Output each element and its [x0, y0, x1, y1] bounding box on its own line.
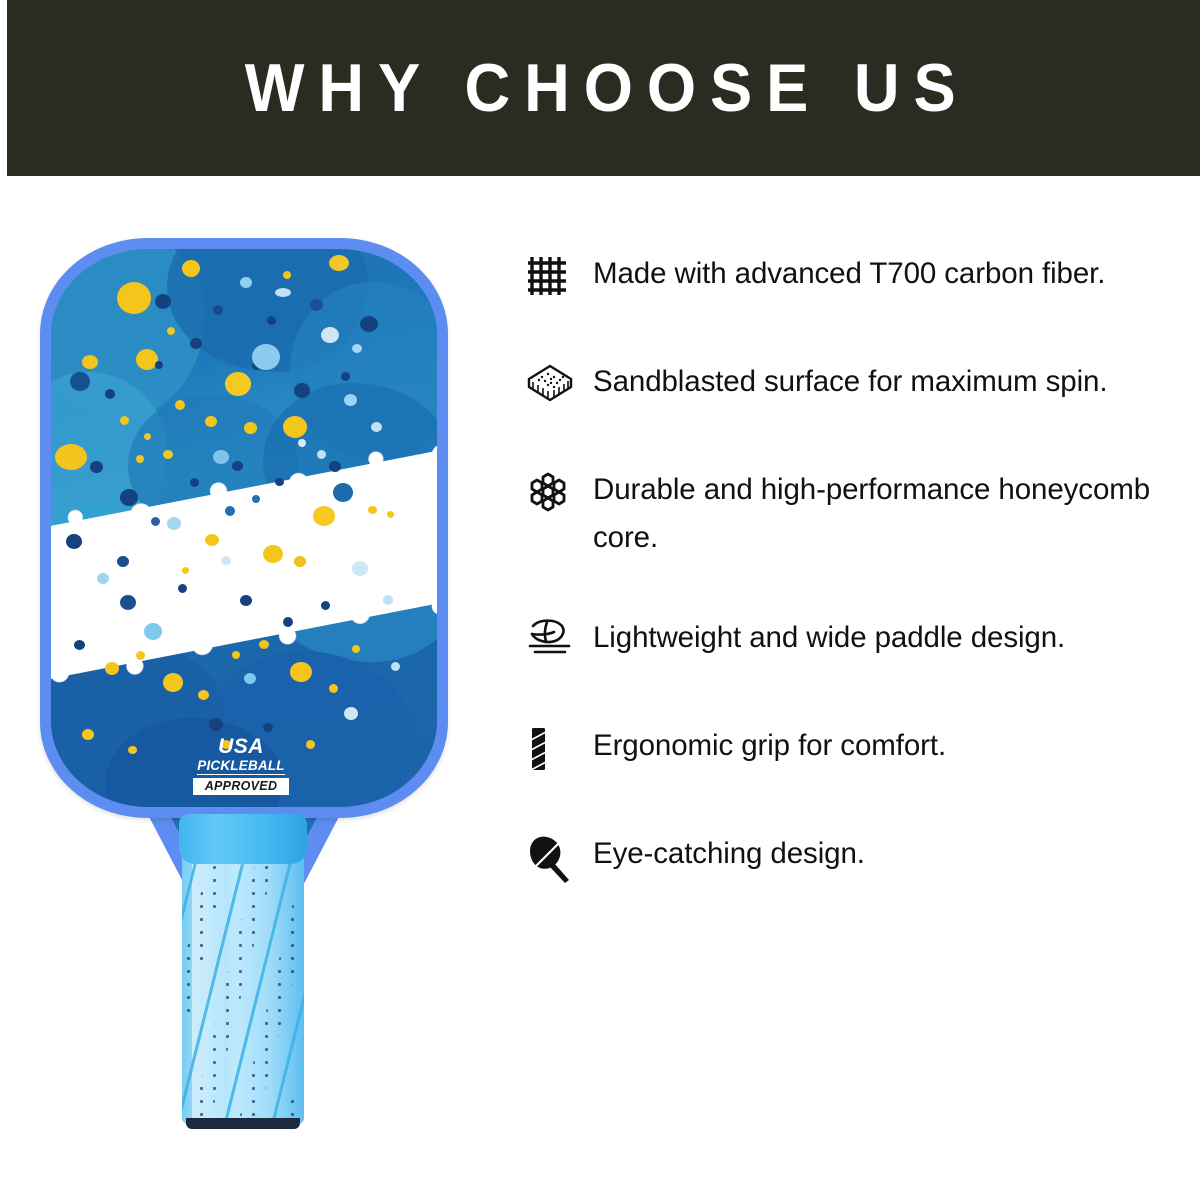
paddle-silhouette-icon — [525, 830, 585, 884]
feature-label: Ergonomic grip for comfort. — [585, 722, 946, 770]
badge-line-pickleball: PICKLEBALL — [197, 759, 285, 775]
feature-list: Made with advanced T700 carbon fiber. — [525, 250, 1185, 938]
header-banner: WHY CHOOSE US — [0, 0, 1200, 176]
honeycomb-core-icon — [525, 466, 585, 516]
grip-end-cap — [186, 1118, 300, 1129]
feature-row: Made with advanced T700 carbon fiber. — [525, 250, 1185, 306]
product-image-pickleball-paddle: USA PICKLEBALL APPROVED — [0, 176, 490, 1200]
usa-pickleball-approved-badge: USA PICKLEBALL APPROVED — [193, 736, 289, 798]
feature-label: Sandblasted surface for maximum spin. — [585, 358, 1107, 406]
feature-row: Ergonomic grip for comfort. — [525, 722, 1185, 778]
feature-label: Lightweight and wide paddle design. — [585, 614, 1065, 662]
feather-lightweight-icon — [525, 614, 585, 658]
badge-line-approved: APPROVED — [193, 778, 289, 796]
feature-label: Eye-catching design. — [585, 830, 865, 878]
grip-handle-icon — [525, 722, 585, 772]
sandblasted-surface-icon — [525, 358, 585, 404]
paddle-head — [40, 238, 448, 818]
feature-row: Lightweight and wide paddle design. — [525, 614, 1185, 670]
carbon-fiber-grid-icon — [525, 250, 585, 298]
feature-row: Eye-catching design. — [525, 830, 1185, 886]
feature-row: Durable and high-performance honeycomb c… — [525, 466, 1185, 562]
paint-splatter-overlay — [51, 249, 437, 807]
feature-label: Made with advanced T700 carbon fiber. — [585, 250, 1105, 298]
paddle-face-graphic — [51, 249, 437, 807]
paddle-grip — [182, 848, 304, 1124]
page-title: WHY CHOOSE US — [231, 54, 970, 122]
grip-collar — [179, 814, 307, 864]
feature-row: Sandblasted surface for maximum spin. — [525, 358, 1185, 414]
badge-line-usa: USA — [193, 736, 289, 757]
feature-label: Durable and high-performance honeycomb c… — [585, 466, 1185, 562]
